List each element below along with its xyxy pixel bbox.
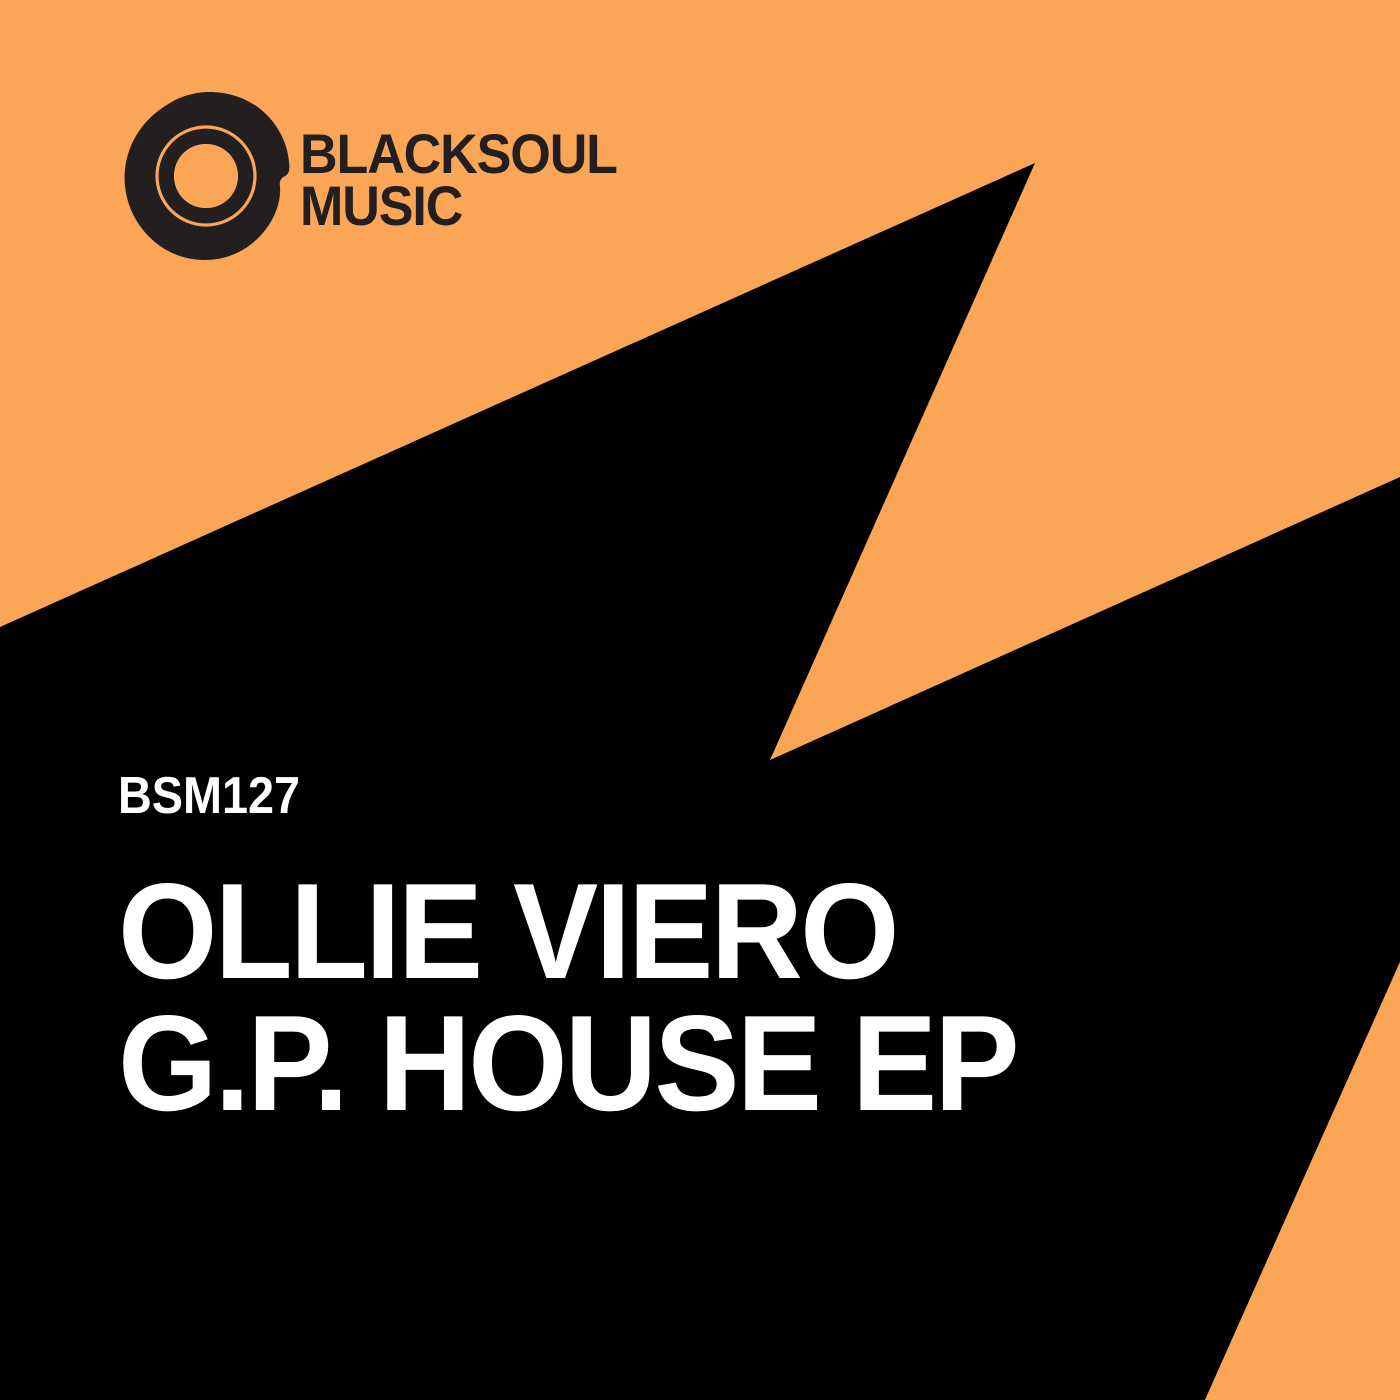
vinyl-centre-hole	[174, 144, 238, 208]
logo-wordmark: BLACKSOUL MUSIC	[300, 128, 580, 231]
logo-wordmark-line-2: MUSIC	[300, 180, 560, 232]
catalog-number: BSM127	[118, 770, 1108, 822]
release-info-block: BSM127 OLLIE VIERO G.P. HOUSE EP	[118, 770, 1218, 1128]
album-cover: BLACKSOUL MUSIC BSM127 OLLIE VIERO G.P. …	[0, 0, 1400, 1400]
blacksoul-music-logo: BLACKSOUL MUSIC	[118, 88, 578, 268]
vinyl-record-logo-icon	[118, 88, 294, 264]
artist-name: OLLIE VIERO	[118, 868, 1152, 996]
logo-wordmark-line-1: BLACKSOUL	[300, 128, 560, 180]
release-title: G.P. HOUSE EP	[118, 1000, 1152, 1128]
